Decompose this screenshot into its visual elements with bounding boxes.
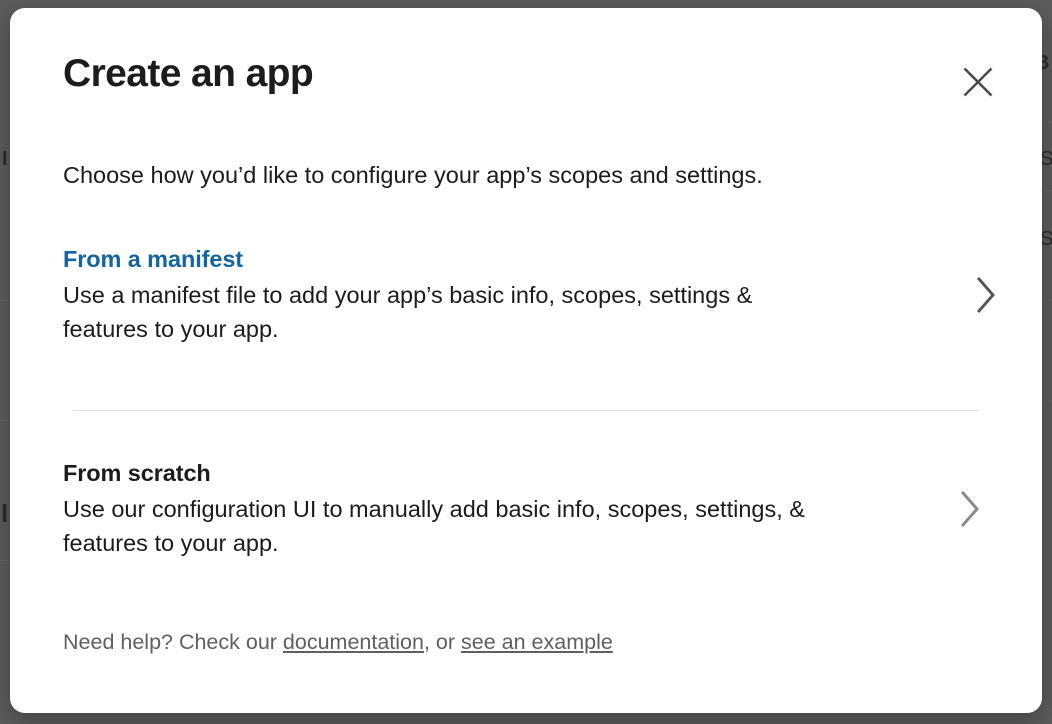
modal-header: Create an app	[63, 54, 1000, 106]
option-description-from-scratch: Use our configuration UI to manually add…	[63, 492, 823, 560]
modal-subtitle: Choose how you’d like to configure your …	[63, 160, 763, 191]
modal-footer-help: Need help? Check our documentation, or s…	[63, 628, 613, 657]
page-title: Create an app	[63, 54, 313, 93]
chevron-right-icon	[957, 487, 983, 531]
option-description-from-a-manifest: Use a manifest file to add your app’s ba…	[63, 278, 823, 346]
option-from-scratch[interactable]: From scratch Use our configuration UI to…	[63, 458, 999, 560]
section-divider	[73, 410, 979, 411]
option-title-from-scratch: From scratch	[63, 458, 823, 490]
footer-lead-text: Need help? Check our	[63, 630, 283, 654]
documentation-link[interactable]: documentation	[283, 630, 424, 654]
chevron-right-icon	[973, 273, 999, 317]
close-button[interactable]	[956, 60, 1000, 104]
create-an-app-modal: Create an app Choose how you’d like to c…	[10, 8, 1042, 713]
option-text: From scratch Use our configuration UI to…	[63, 458, 823, 560]
background-text-fragment: I	[1, 498, 8, 529]
option-text: From a manifest Use a manifest file to a…	[63, 244, 823, 346]
option-title-from-a-manifest: From a manifest	[63, 244, 823, 276]
option-from-a-manifest[interactable]: From a manifest Use a manifest file to a…	[63, 244, 999, 346]
background-text-fragment: I	[2, 148, 8, 171]
close-icon	[961, 65, 995, 99]
footer-middle-text: , or	[424, 630, 461, 654]
modal-body: Create an app Choose how you’d like to c…	[10, 8, 1042, 713]
see-an-example-link[interactable]: see an example	[461, 630, 613, 654]
